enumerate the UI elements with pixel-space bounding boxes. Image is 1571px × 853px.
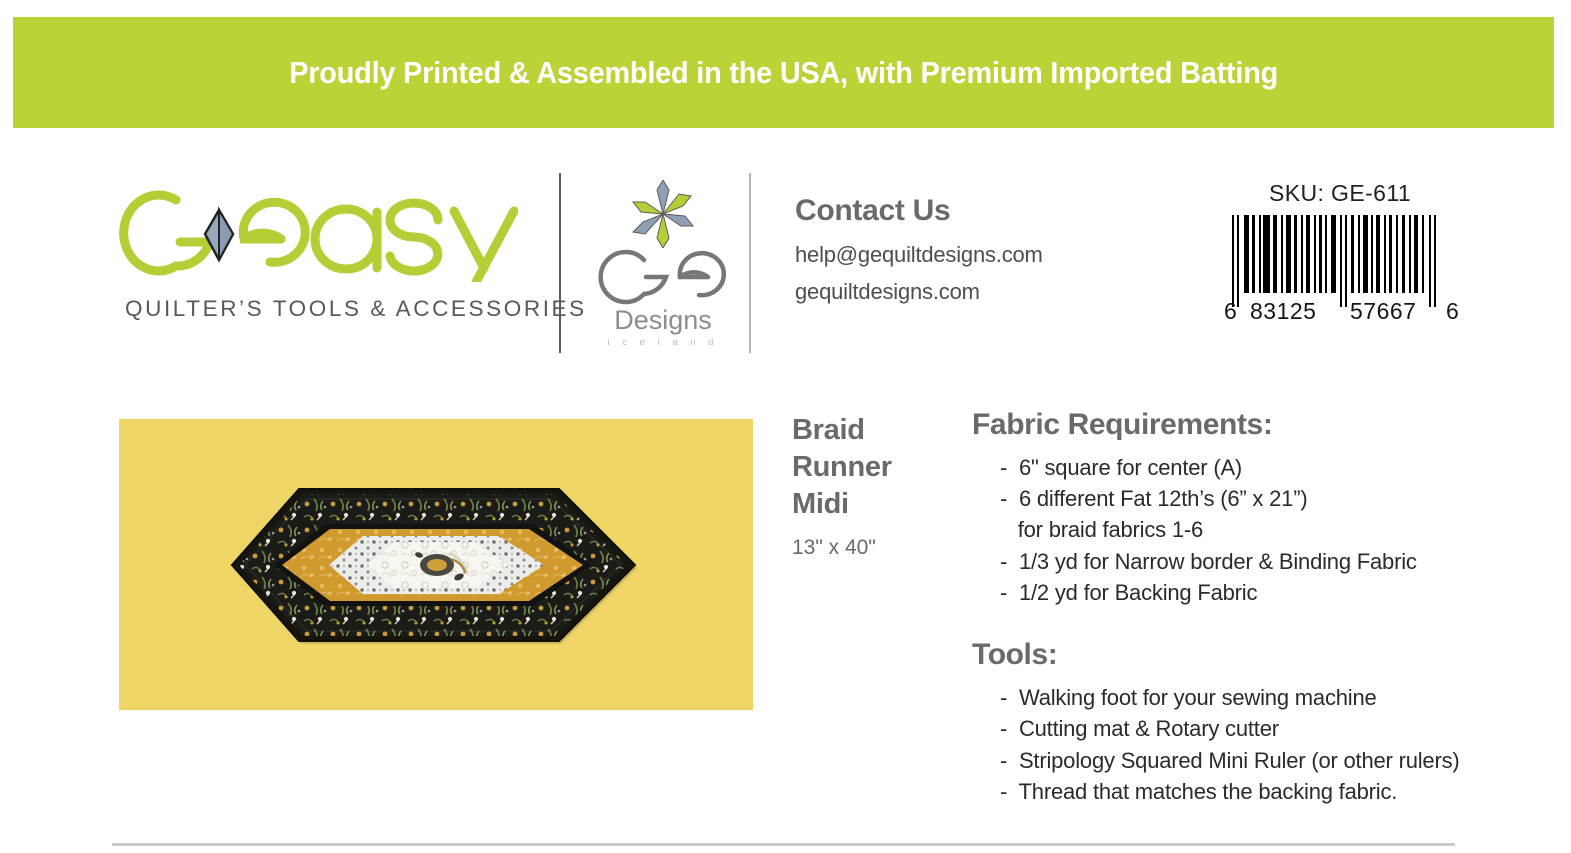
ge-designs-logo: Designs i c e l a n d bbox=[588, 180, 738, 340]
upc-digit-group2: 57667 bbox=[1350, 298, 1416, 325]
fabric-requirements-list: - 6" square for center (A) - 6 different… bbox=[1000, 452, 1492, 608]
product-title-line1: Braid bbox=[792, 414, 865, 446]
ge-monogram bbox=[598, 246, 728, 308]
banner-text: Proudly Printed & Assembled in the USA, … bbox=[289, 55, 1278, 91]
geasy-tagline: QUILTER’S TOOLS & ACCESSORIES bbox=[125, 296, 587, 322]
tools-heading: Tools: bbox=[972, 638, 1492, 672]
product-title-line3: Midi bbox=[792, 488, 849, 520]
geasy-wordmark bbox=[118, 190, 518, 282]
header: QUILTER’S TOOLS & ACCESSORIES Designs i … bbox=[0, 160, 1571, 365]
contact-website[interactable]: gequiltdesigns.com bbox=[795, 279, 1125, 305]
contact-block: Contact Us help@gequiltdesigns.com gequi… bbox=[795, 194, 1125, 316]
specs-block: Fabric Requirements: - 6" square for cen… bbox=[972, 408, 1492, 807]
list-item: - 6 different Fat 12th’s (6” x 21”) bbox=[1000, 483, 1492, 514]
upc-digit-group1: 83125 bbox=[1250, 298, 1316, 325]
list-item: - Walking foot for your sewing machine bbox=[1000, 682, 1492, 713]
list-item: - 1/3 yd for Narrow border & Binding Fab… bbox=[1000, 546, 1492, 577]
product-title-block: Braid Runner Midi 13" x 40" bbox=[792, 412, 967, 560]
usa-banner: Proudly Printed & Assembled in the USA, … bbox=[13, 17, 1554, 128]
geasy-logo: QUILTER’S TOOLS & ACCESSORIES bbox=[118, 190, 518, 330]
contact-email[interactable]: help@gequiltdesigns.com bbox=[795, 242, 1125, 268]
product-title-line2: Runner bbox=[792, 451, 892, 483]
sku-block: SKU: GE-611 bbox=[1215, 180, 1465, 344]
ge-iceland-word: i c e l a n d bbox=[588, 337, 738, 348]
list-item: - Stripology Squared Mini Ruler (or othe… bbox=[1000, 745, 1492, 776]
list-item: - Cutting mat & Rotary cutter bbox=[1000, 713, 1492, 744]
ge-designs-word: Designs bbox=[588, 305, 738, 336]
fabric-requirements-heading: Fabric Requirements: bbox=[972, 408, 1492, 442]
product-title: Braid Runner Midi bbox=[792, 412, 967, 522]
six-point-star-icon bbox=[627, 180, 699, 248]
header-divider-2 bbox=[749, 173, 751, 353]
list-item: - 1/2 yd for Backing Fabric bbox=[1000, 577, 1492, 608]
upc-digit-left: 6 bbox=[1224, 298, 1237, 325]
contact-heading: Contact Us bbox=[795, 194, 1125, 228]
list-item: for braid fabrics 1-6 bbox=[1000, 514, 1492, 545]
tools-list: - Walking foot for your sewing machine -… bbox=[1000, 682, 1492, 807]
upc-digits: 6 83125 57667 6 bbox=[1224, 320, 1456, 344]
list-item: - Thread that matches the backing fabric… bbox=[1000, 776, 1492, 807]
product-size: 13" x 40" bbox=[792, 536, 967, 560]
list-item: - 6" square for center (A) bbox=[1000, 452, 1492, 483]
upc-digit-right: 6 bbox=[1446, 298, 1459, 325]
header-divider-1 bbox=[559, 173, 561, 353]
sku-label: SKU: GE-611 bbox=[1215, 180, 1465, 207]
bottom-divider bbox=[112, 843, 1455, 846]
product-photo bbox=[119, 419, 753, 710]
